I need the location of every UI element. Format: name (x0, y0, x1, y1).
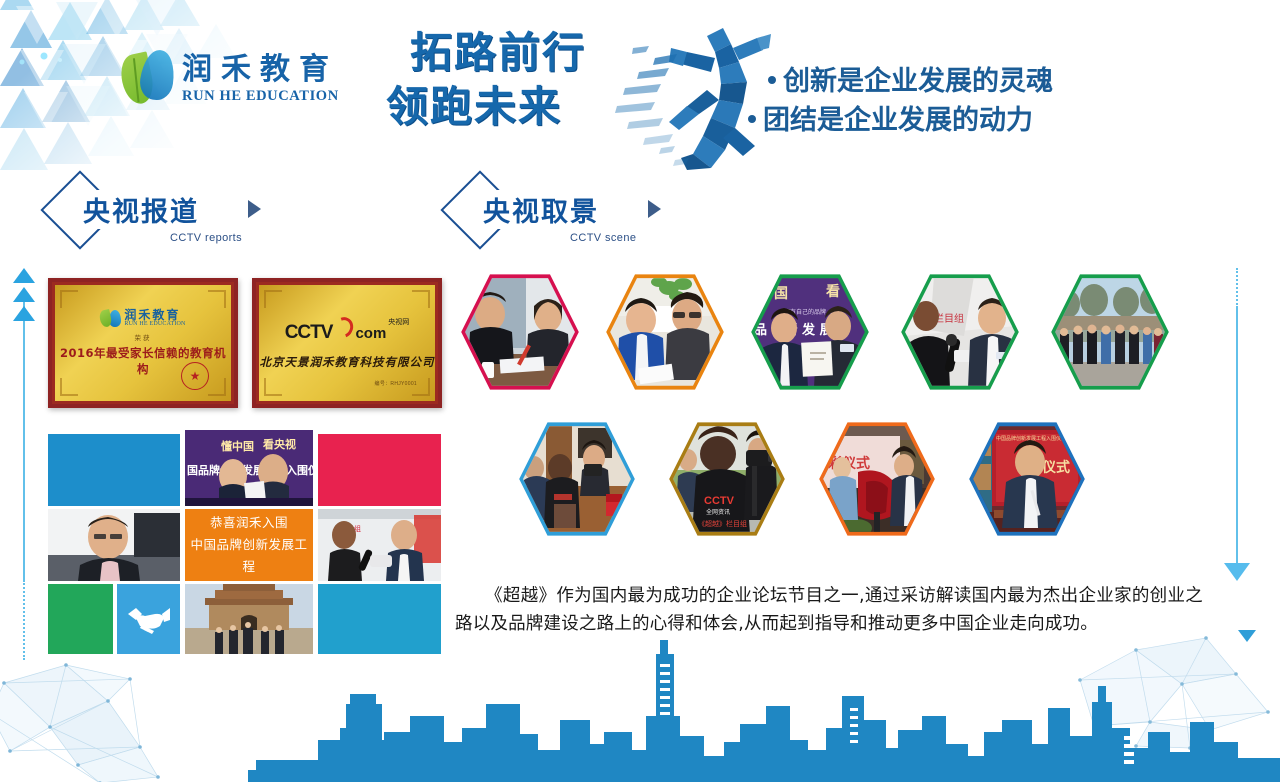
hex-certificate-handover: 中国 看 都有自己的品牌, 每个 品 创新 发 展 (750, 272, 870, 392)
section-header-cctv-scene: 央视取景 CCTV scene (452, 182, 692, 252)
brand-name-cn: 润禾教育 (182, 55, 339, 85)
hex-filming-office (518, 420, 636, 538)
certificate-card-2: CCTV com 央视网 北京天景润禾教育科技有限公司 编号：RHJY0001 (252, 278, 442, 408)
grid-tile-blue-block (48, 434, 180, 506)
cctv-com-text: com (355, 325, 386, 342)
bullet-dot-icon (768, 76, 776, 84)
cert-code: 编号：RHJY0001 (375, 380, 417, 387)
bullet-dot-icon (748, 115, 756, 123)
poster-canvas: 润禾教育 RUN HE EDUCATION 拓路前行 领跑未来 (0, 0, 1280, 782)
certificate-card-1: 润禾教育 RUN HE EDUCATION 荣获 2016年最受家长信赖的教育机… (48, 278, 238, 408)
slogan-item-2: 团结是企业发展的动力 (748, 101, 1053, 140)
right-rail-line (1236, 308, 1238, 563)
arrow-down-icon (1224, 563, 1250, 581)
handshake-icon (126, 602, 172, 636)
svg-text:国品牌创新发展工程入围仪式: 国品牌创新发展工程入围仪式 (187, 463, 313, 477)
congrats-line-1: 恭喜润禾入围 (210, 512, 288, 534)
play-triangle-icon (248, 200, 261, 218)
city-skyline-silhouette (0, 632, 1280, 782)
hex-meeting-interview (460, 272, 580, 392)
hex-cctv-camera-crew: CCTV 全网资讯 《超越》栏目组 (668, 420, 786, 538)
brand-logo: 润禾教育 RUN HE EDUCATION (122, 48, 339, 110)
section-title-en-1: CCTV reports (170, 232, 242, 244)
cert-brand-cn: 润禾教育 (124, 309, 185, 321)
hex-unveiling-ceremony: 彩仪式 (818, 420, 936, 538)
section-header-cctv-reports: 央视报道 CCTV reports (52, 182, 292, 252)
svg-text:看央视: 看央视 (263, 437, 296, 451)
cctv-text: CCTV (285, 322, 333, 344)
certificate-brand-logo: 润禾教育 RUN HE EDUCATION (100, 309, 185, 327)
body-paragraph-text: 《超越》作为国内最为成功的企业论坛节目之一,通过采访解读国内最为杰出企业家的创业… (455, 586, 1203, 634)
left-rail-line (23, 290, 25, 580)
grid-tile-speaker-portrait-photo (48, 509, 180, 581)
hex-two-women-reviewing (605, 272, 725, 392)
slogan-list: 创新是企业发展的灵魂 团结是企业发展的动力 (768, 62, 1053, 140)
hex-group-photo (1050, 272, 1170, 392)
cert-company-name: 北京天景润禾教育科技有限公司 (260, 354, 435, 370)
arrow-up-icon (13, 268, 35, 283)
svg-text:懂中国: 懂中国 (221, 439, 254, 453)
svg-text:《超越》栏目组: 《超越》栏目组 (698, 519, 747, 528)
svg-text:看: 看 (825, 283, 840, 300)
congrats-line-2: 中国品牌创新发展工程 (185, 534, 313, 578)
cert-brand-en: RUN HE EDUCATION (124, 321, 185, 327)
grid-tile-interview-photo: 栏目组 (318, 509, 441, 581)
grid-tile-award-ceremony-photo: 懂中国 看央视 国品牌创新发展工程入围仪式 (185, 430, 313, 506)
slogan-text-1: 创新是企业发展的灵魂 (783, 66, 1053, 97)
arrow-up-icon (13, 306, 35, 321)
brand-name-en: RUN HE EDUCATION (182, 89, 339, 104)
grid-tile-congrats-banner: 恭喜润禾入围 中国品牌创新发展工程 (185, 509, 313, 581)
slogan-text-2: 团结是企业发展的动力 (763, 105, 1033, 136)
hex-podium-speech: 中国品牌创新发展工程入围仪式 彩仪式 (968, 420, 1086, 538)
cctv-cn-text: 央视网 (388, 317, 409, 327)
cctv-logo-icon: CCTV com 央视网 (285, 317, 410, 344)
svg-text:全网资讯: 全网资讯 (706, 508, 730, 516)
section-title-en-2: CCTV scene (570, 232, 636, 244)
cctv-swoosh-icon (331, 313, 357, 340)
slogan-item-1: 创新是企业发展的灵魂 (768, 62, 1053, 101)
play-triangle-icon (648, 200, 661, 218)
grid-tile-crimson-block (318, 434, 441, 506)
hex-microphone-interview: 栏目组 (900, 272, 1020, 392)
right-rail-dashed (1236, 268, 1238, 308)
svg-text:CCTV: CCTV (704, 495, 735, 507)
arrow-up-icon (13, 287, 35, 302)
red-star-seal-icon: ★ (181, 362, 209, 390)
cert-award-label: 荣获 (135, 332, 152, 342)
section-title-cn-2: 央视取景 (480, 190, 602, 229)
leaf-waterdrop-icon (122, 48, 174, 110)
section-title-cn-1: 央视报道 (80, 190, 202, 229)
